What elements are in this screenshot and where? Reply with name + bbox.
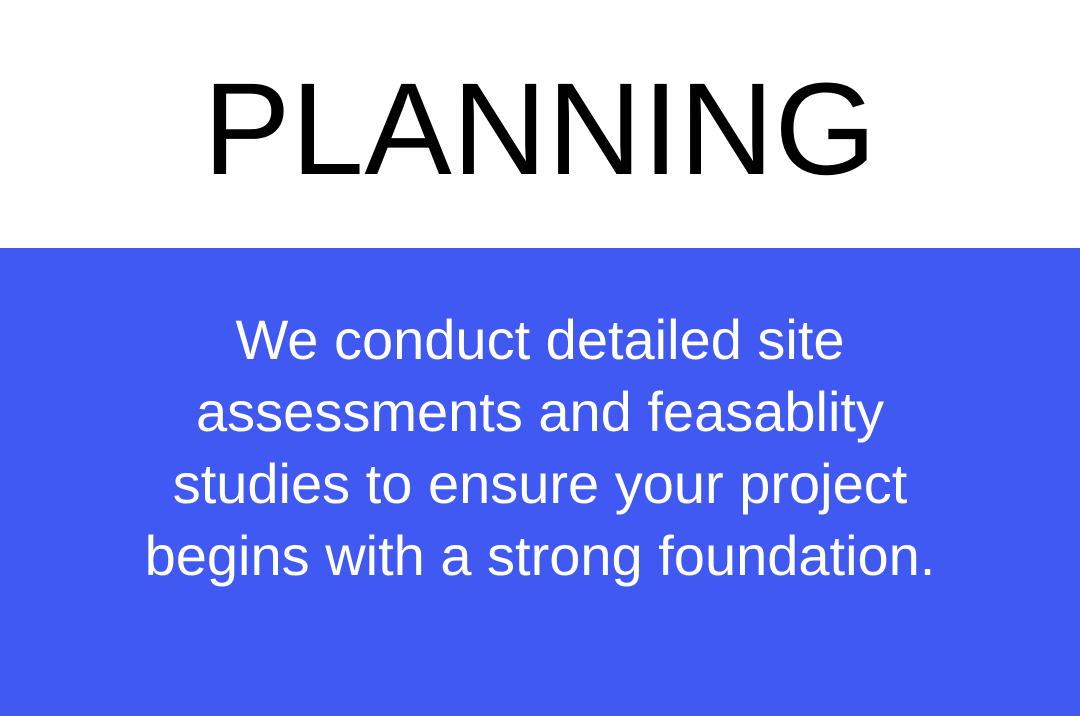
- body-copy: We conduct detailed site assessments and…: [70, 304, 1010, 592]
- planning-card: PLANNING We conduct detailed site assess…: [0, 0, 1080, 716]
- body-copy-line: We conduct detailed site: [70, 304, 1010, 376]
- body-copy-line: begins with a strong foundation.: [70, 520, 1010, 592]
- card-body-band: We conduct detailed site assessments and…: [0, 248, 1080, 716]
- body-copy-line: assessments and feasablity: [70, 376, 1010, 448]
- page-title: PLANNING: [203, 63, 877, 194]
- body-copy-line: studies to ensure your project: [70, 448, 1010, 520]
- card-header-band: PLANNING: [0, 0, 1080, 248]
